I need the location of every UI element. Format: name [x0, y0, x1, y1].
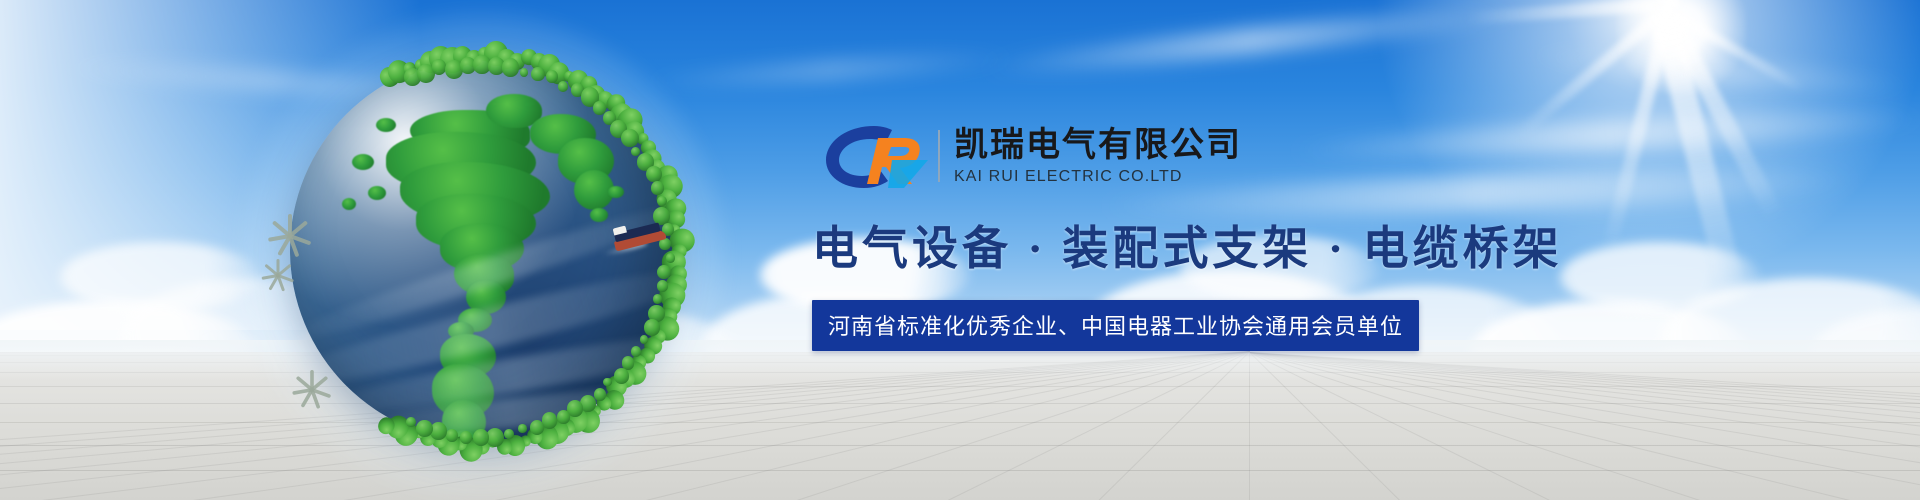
- tree-icon: [518, 424, 526, 433]
- tree-icon: [614, 368, 629, 384]
- tree-icon: [646, 166, 662, 183]
- tree-icon: [653, 294, 662, 304]
- tree-icon: [473, 429, 489, 446]
- tree-icon: [504, 429, 513, 439]
- credential-ribbon: 河南省标准化优秀企业、中国电器工业协会通用会员单位: [812, 300, 1419, 351]
- brand-divider: [938, 130, 940, 182]
- tree-icon: [531, 67, 544, 81]
- green-earth-globe-icon: [272, 36, 692, 466]
- tree-icon: [631, 346, 641, 357]
- tree-icon: [644, 319, 660, 336]
- tree-icon: [651, 181, 664, 194]
- credential-ribbon-text: 河南省标准化优秀企业、中国电器工业协会通用会员单位: [828, 314, 1403, 339]
- tree-icon: [640, 335, 648, 344]
- banner-content: 凯瑞电气有限公司 KAI RUI ELECTRIC CO.LTD 电气设备 · …: [812, 118, 1512, 351]
- tree-icon: [416, 420, 433, 438]
- cr-monogram-icon: [812, 118, 932, 194]
- tree-icon: [621, 129, 639, 148]
- hero-banner: 凯瑞电气有限公司 KAI RUI ELECTRIC CO.LTD 电气设备 · …: [0, 0, 1920, 500]
- tree-icon: [432, 59, 446, 74]
- tree-icon: [603, 378, 611, 387]
- company-name-cn: 凯瑞电气有限公司: [954, 126, 1242, 165]
- cloud-puff: [60, 242, 260, 312]
- tree-icon: [502, 58, 519, 76]
- tree-icon: [406, 417, 415, 427]
- cloud-puff: [1560, 242, 1760, 312]
- brand-lockup: 凯瑞电气有限公司 KAI RUI ELECTRIC CO.LTD: [812, 118, 1512, 194]
- tree-icon: [520, 68, 528, 77]
- company-name-en: KAI RUI ELECTRIC CO.LTD: [954, 168, 1242, 186]
- tree-icon: [594, 388, 606, 401]
- tree-icon: [557, 410, 570, 424]
- banner-tagline: 电气设备 · 装配式支架 · 电缆桥架: [812, 212, 1512, 278]
- tree-icon: [558, 81, 568, 92]
- tree-icon: [657, 265, 671, 280]
- brand-names: 凯瑞电气有限公司 KAI RUI ELECTRIC CO.LTD: [954, 126, 1242, 187]
- tree-icon: [666, 253, 675, 263]
